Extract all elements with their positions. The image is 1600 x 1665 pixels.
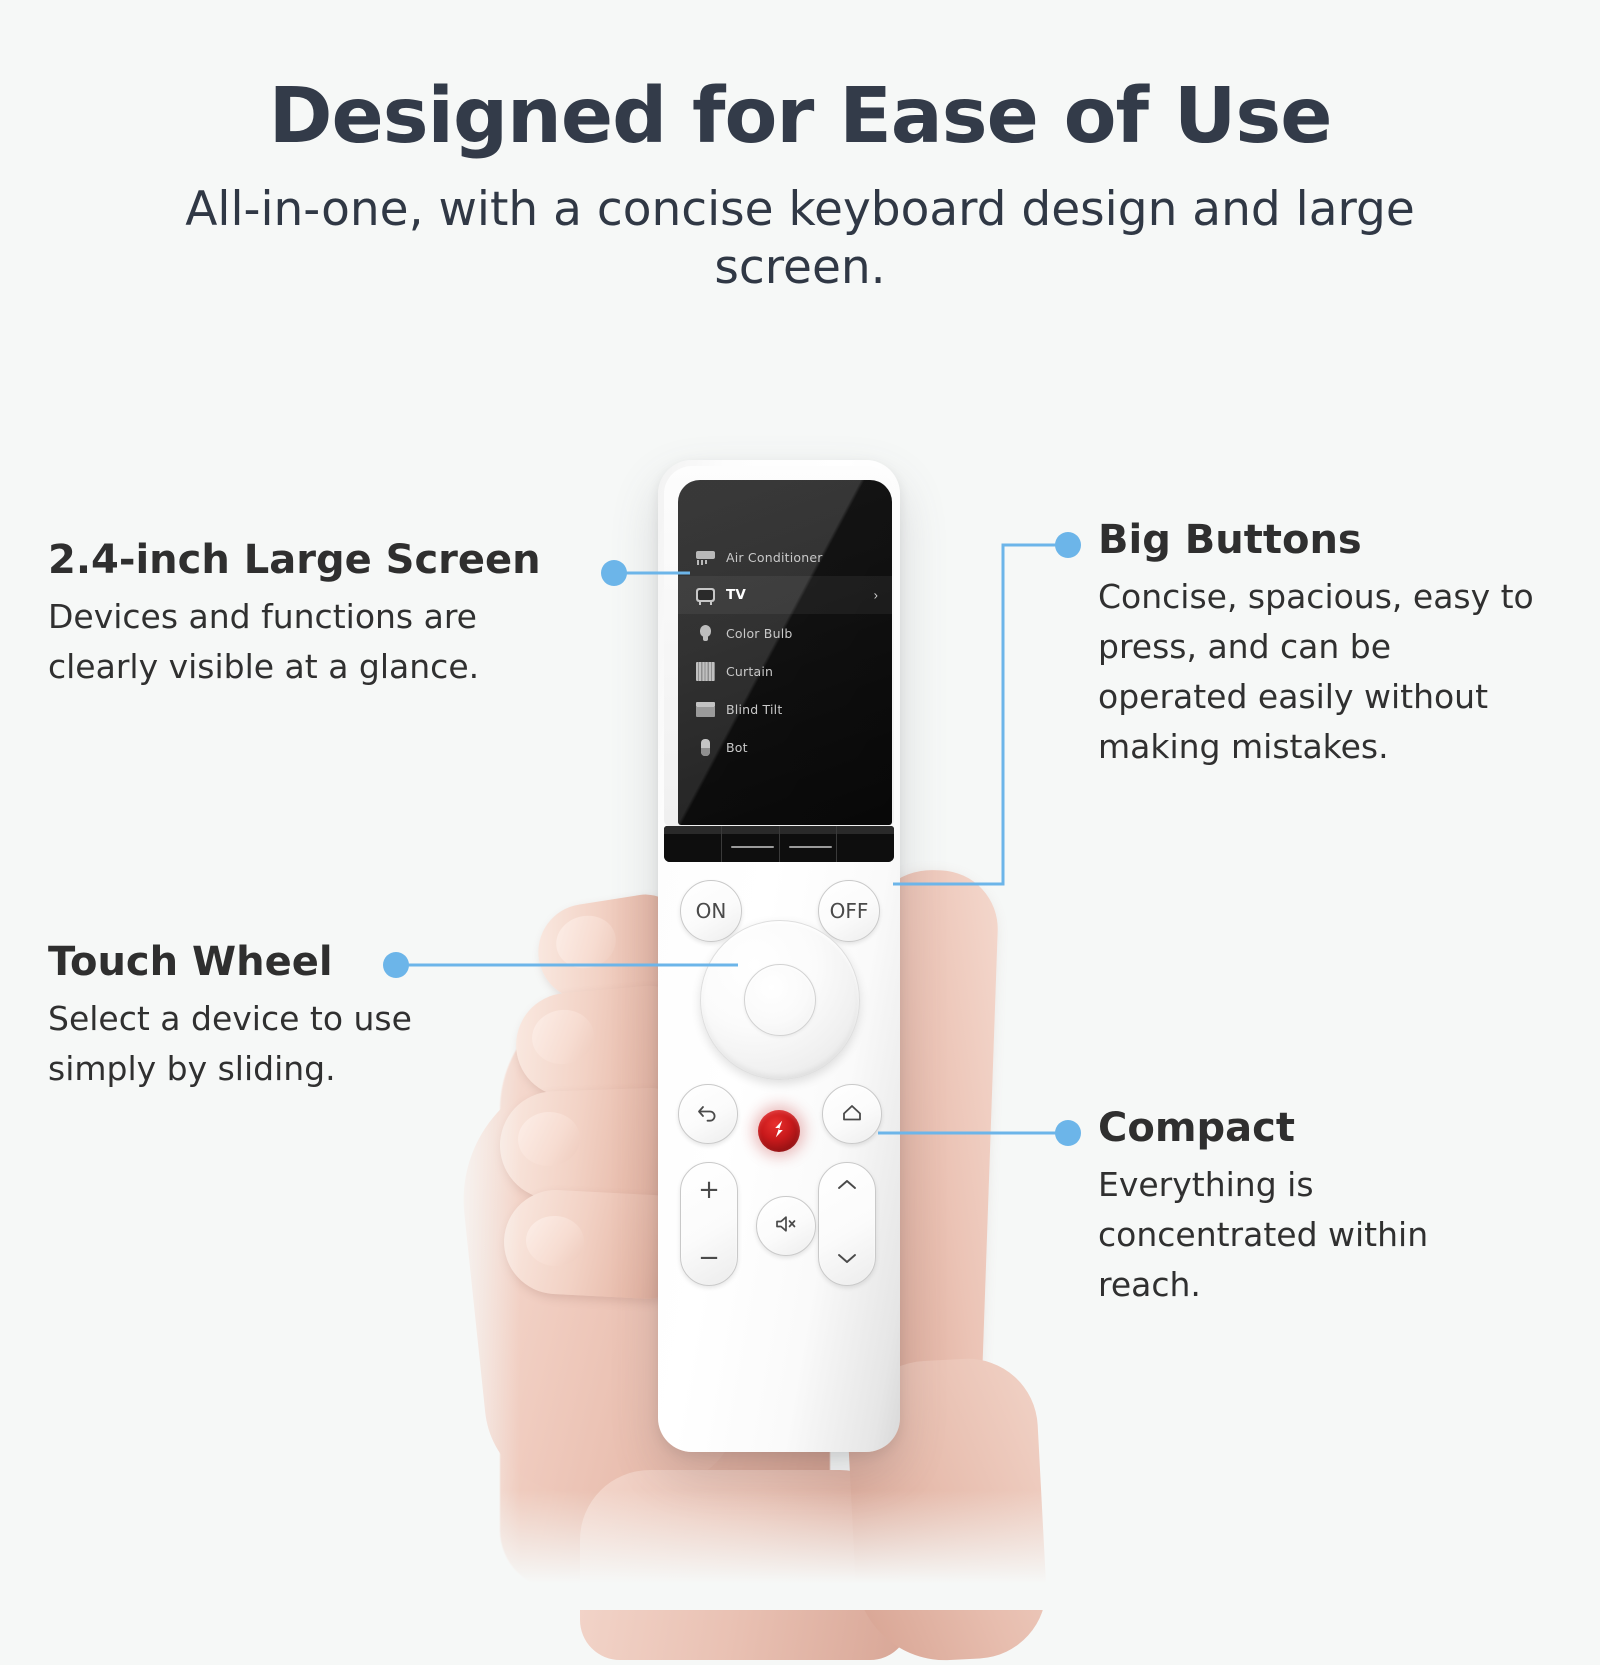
photo-fade-bottom bbox=[420, 1490, 1140, 1610]
touch-wheel-center-button[interactable] bbox=[744, 964, 816, 1036]
callout-body: Concise, spacious, easy to press, and ca… bbox=[1098, 572, 1548, 773]
callout-big-buttons: Big Buttons Concise, spacious, easy to p… bbox=[1098, 518, 1548, 773]
air-conditioner-icon bbox=[696, 548, 715, 567]
switchbot-logo-button[interactable] bbox=[758, 1110, 800, 1152]
chevron-right-icon: › bbox=[874, 589, 878, 602]
device-list-item-tv[interactable]: TV › bbox=[678, 576, 892, 614]
on-button-label: ON bbox=[696, 899, 727, 923]
home-icon bbox=[838, 1098, 866, 1130]
device-list-item-color-bulb[interactable]: Color Bulb bbox=[678, 614, 892, 652]
page-subtitle: All-in-one, with a concise keyboard desi… bbox=[180, 181, 1420, 297]
device-list-item-air-conditioner[interactable]: Air Conditioner bbox=[678, 538, 892, 576]
callout-screen: 2.4-inch Large Screen Devices and functi… bbox=[48, 538, 604, 692]
callout-body: Select a device to use simply by sliding… bbox=[48, 994, 478, 1094]
header: Designed for Ease of Use All-in-one, wit… bbox=[0, 78, 1600, 297]
channel-rocker[interactable] bbox=[818, 1162, 876, 1286]
touch-wheel[interactable] bbox=[700, 920, 860, 1080]
device-label: Color Bulb bbox=[726, 626, 793, 641]
tv-icon bbox=[696, 586, 715, 605]
callout-compact: Compact Everything is concentrated withi… bbox=[1098, 1106, 1478, 1310]
remote-control-body: Air Conditioner TV › bbox=[658, 460, 900, 1452]
screen-bezel: Air Conditioner TV › bbox=[664, 466, 894, 826]
page-title: Designed for Ease of Use bbox=[0, 78, 1600, 155]
chevron-up-icon[interactable] bbox=[834, 1177, 860, 1198]
off-button[interactable]: OFF bbox=[818, 880, 880, 942]
photo-fade-left bbox=[440, 810, 520, 1600]
device-list: Air Conditioner TV › bbox=[678, 538, 892, 766]
on-button[interactable]: ON bbox=[680, 880, 742, 942]
curtain-icon bbox=[696, 662, 715, 681]
mute-button[interactable] bbox=[756, 1196, 816, 1256]
volume-up-label[interactable]: + bbox=[698, 1177, 720, 1203]
device-screen[interactable]: Air Conditioner TV › bbox=[678, 480, 892, 825]
bot-icon bbox=[696, 738, 715, 757]
callout-touch-wheel: Touch Wheel Select a device to use simpl… bbox=[48, 940, 488, 1094]
device-label: Blind Tilt bbox=[726, 702, 782, 717]
key-segment[interactable] bbox=[837, 826, 894, 862]
device-label: Curtain bbox=[726, 664, 773, 679]
callout-title: 2.4-inch Large Screen bbox=[48, 538, 604, 582]
callout-title: Compact bbox=[1098, 1106, 1478, 1150]
callout-title: Big Buttons bbox=[1098, 518, 1548, 562]
back-button[interactable] bbox=[678, 1084, 738, 1144]
device-label: Air Conditioner bbox=[726, 550, 823, 565]
back-arrow-icon bbox=[694, 1098, 722, 1130]
blind-tilt-icon bbox=[696, 700, 715, 719]
device-label: TV bbox=[726, 587, 746, 603]
infographic-stage: Designed for Ease of Use All-in-one, wit… bbox=[0, 0, 1600, 1600]
home-button[interactable] bbox=[822, 1084, 882, 1144]
callout-body: Everything is concentrated within reach. bbox=[1098, 1160, 1473, 1310]
device-list-item-bot[interactable]: Bot bbox=[678, 728, 892, 766]
button-panel: ON OFF bbox=[658, 862, 900, 1452]
device-list-item-blind-tilt[interactable]: Blind Tilt bbox=[678, 690, 892, 728]
key-segment[interactable] bbox=[722, 826, 780, 862]
mute-icon bbox=[771, 1211, 801, 1241]
callout-title: Touch Wheel bbox=[48, 940, 488, 984]
device-list-item-curtain[interactable]: Curtain bbox=[678, 652, 892, 690]
color-bulb-icon bbox=[696, 624, 715, 643]
device-label: Bot bbox=[726, 740, 748, 755]
keyboard-strip[interactable] bbox=[664, 826, 894, 862]
switchbot-logo-icon bbox=[767, 1117, 791, 1146]
volume-down-label[interactable]: − bbox=[698, 1245, 720, 1271]
volume-rocker[interactable]: + − bbox=[680, 1162, 738, 1286]
key-segment[interactable] bbox=[664, 826, 722, 862]
off-button-label: OFF bbox=[830, 899, 869, 923]
key-segment[interactable] bbox=[780, 826, 838, 862]
callout-body: Devices and functions are clearly visibl… bbox=[48, 592, 548, 692]
chevron-down-icon[interactable] bbox=[834, 1250, 860, 1271]
